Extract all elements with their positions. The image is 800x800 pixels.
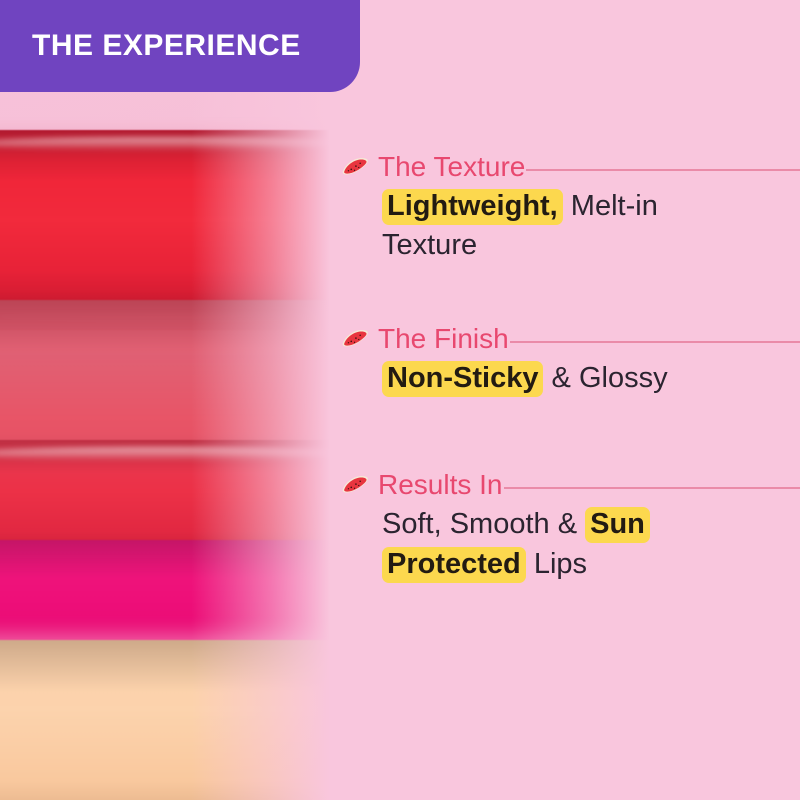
swatch-gloss-highlight <box>0 137 330 150</box>
feature-rule <box>526 169 800 171</box>
feature-heading-row: The Texture <box>340 150 800 184</box>
feature-highlight: Lightweight, <box>382 189 563 225</box>
feature-heading-row: Results In <box>340 468 800 502</box>
feature-list: The Texture Lightweight, Melt-in Texture <box>340 150 800 584</box>
swatch-band-peach-nude <box>0 640 330 800</box>
product-swatch-image <box>0 0 330 800</box>
feature-item-texture: The Texture Lightweight, Melt-in Texture <box>340 150 800 266</box>
header-banner: THE EXPERIENCE <box>0 0 360 92</box>
feature-item-finish: The Finish Non-Sticky & Glossy <box>340 322 800 398</box>
feature-body: Soft, Smooth & Sun Protected Lips <box>382 505 762 584</box>
swatch-shading <box>0 640 330 800</box>
feature-body: Lightweight, Melt-in Texture <box>382 187 752 266</box>
feature-title: The Finish <box>378 325 509 353</box>
feature-rule <box>510 341 800 343</box>
feature-heading-row: The Finish <box>340 322 800 356</box>
feature-item-results: Results In Soft, Smooth & Sun Protected … <box>340 468 800 584</box>
feature-rule <box>504 487 800 489</box>
watermelon-slice-icon <box>340 470 370 500</box>
feature-title: Results In <box>378 471 503 499</box>
feature-title: The Texture <box>378 153 525 181</box>
feature-text: Lips <box>526 548 587 580</box>
feature-body: Non-Sticky & Glossy <box>382 359 800 398</box>
swatch-gloss-highlight <box>0 447 330 460</box>
watermelon-slice-icon <box>340 324 370 354</box>
feature-text: Soft, Smooth & <box>382 508 585 540</box>
feature-text: & Glossy <box>543 362 667 394</box>
page-title: THE EXPERIENCE <box>32 29 301 63</box>
promo-card: THE EXPERIENCE The Texture <box>0 0 800 800</box>
watermelon-slice-icon <box>340 152 370 182</box>
feature-highlight: Non-Sticky <box>382 361 543 397</box>
